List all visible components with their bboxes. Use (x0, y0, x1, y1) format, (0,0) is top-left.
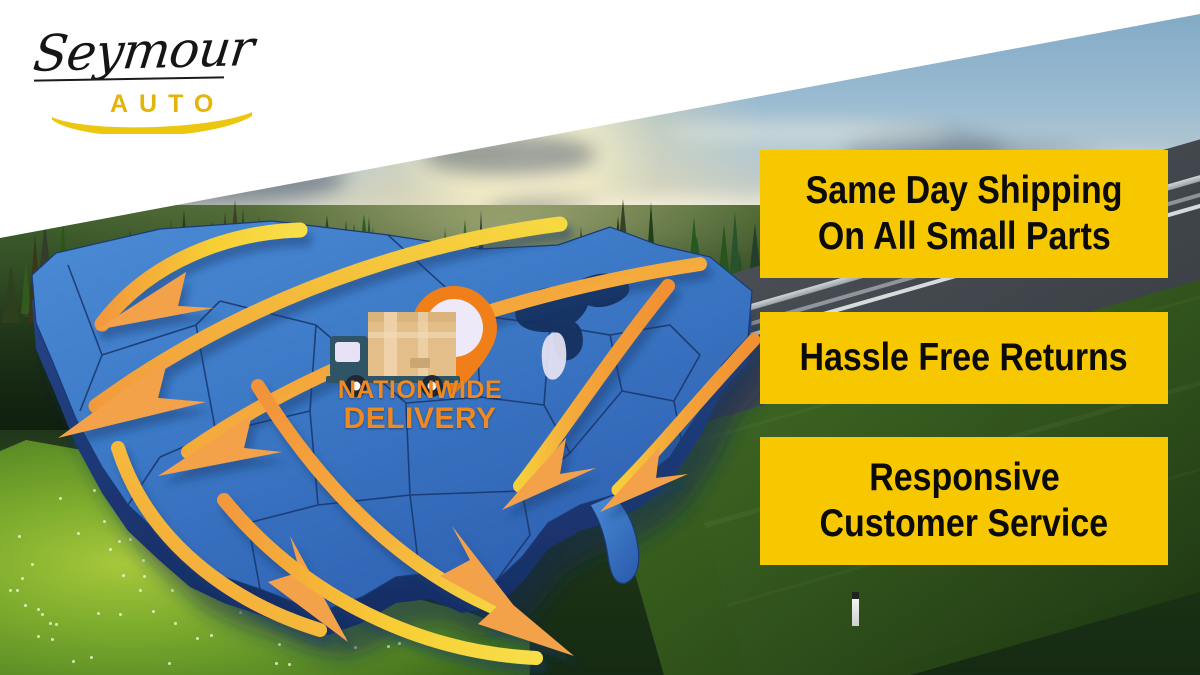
roadside-post (852, 592, 859, 626)
callout-hassle-free-returns[interactable]: Hassle Free Returns (760, 312, 1168, 404)
callout-1-line-1: Same Day Shipping (806, 168, 1123, 214)
callout-3-line-1: Responsive (869, 455, 1059, 501)
badge-line-2: DELIVERY (322, 404, 518, 435)
badge-line-1: NATIONWIDE (322, 378, 518, 404)
callout-1-line-2: On All Small Parts (818, 214, 1111, 260)
callout-same-day-shipping[interactable]: Same Day Shipping On All Small Parts (760, 150, 1168, 278)
logo-wordmark: Seymour (30, 19, 256, 83)
nationwide-delivery-label: NATIONWIDE DELIVERY (322, 378, 518, 434)
brand-logo[interactable]: Seymour AUTO (28, 18, 258, 128)
callout-3-line-2: Customer Service (820, 501, 1109, 547)
promo-banner: NATIONWIDE DELIVERY Seymour AUTO Same Da… (0, 0, 1200, 675)
logo-swoosh (52, 104, 252, 134)
callout-responsive-customer-service[interactable]: Responsive Customer Service (760, 437, 1168, 565)
callout-2-line-1: Hassle Free Returns (800, 337, 1128, 380)
